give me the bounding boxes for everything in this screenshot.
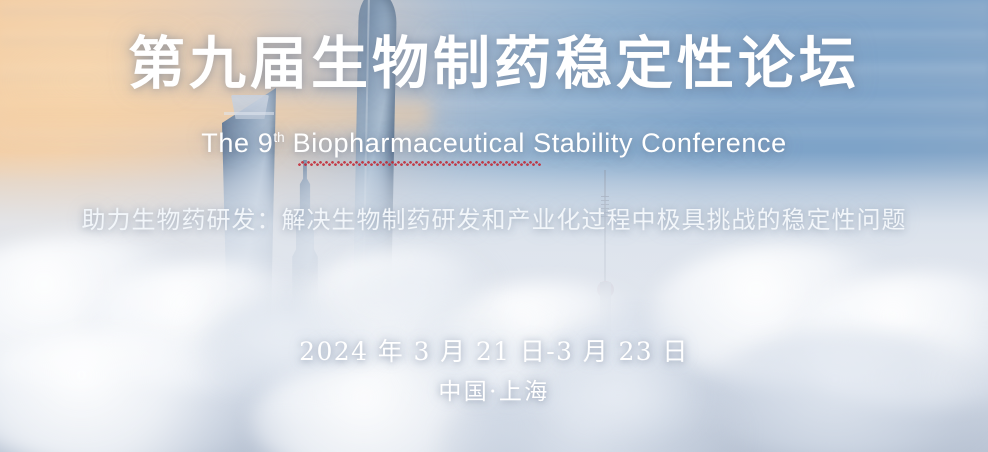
main-title: 第九届生物制药稳定性论坛 (0, 30, 988, 98)
english-title-container: The 9th Biopharmaceutical Stability Conf… (0, 121, 988, 160)
banner-text-layer: 第九届生物制药稳定性论坛 The 9th Biopharmaceutical S… (0, 0, 988, 452)
english-title: The 9th Biopharmaceutical Stability Conf… (201, 121, 786, 160)
event-location: 中国·上海 (0, 377, 988, 407)
english-title-pre: The 9 (201, 128, 273, 158)
tagline: 助力生物药研发：解决生物制药研发和产业化过程中极具挑战的稳定性问题 (0, 203, 988, 237)
conference-banner: 第九届生物制药稳定性论坛 The 9th Biopharmaceutical S… (0, 0, 988, 452)
event-date: 2024 年 3 月 21 日-3 月 23 日 (0, 336, 988, 368)
english-title-post: Biopharmaceutical Stability Conference (285, 128, 787, 158)
spellcheck-squiggle-underline (298, 161, 541, 166)
ordinal-suffix: th (273, 130, 284, 145)
